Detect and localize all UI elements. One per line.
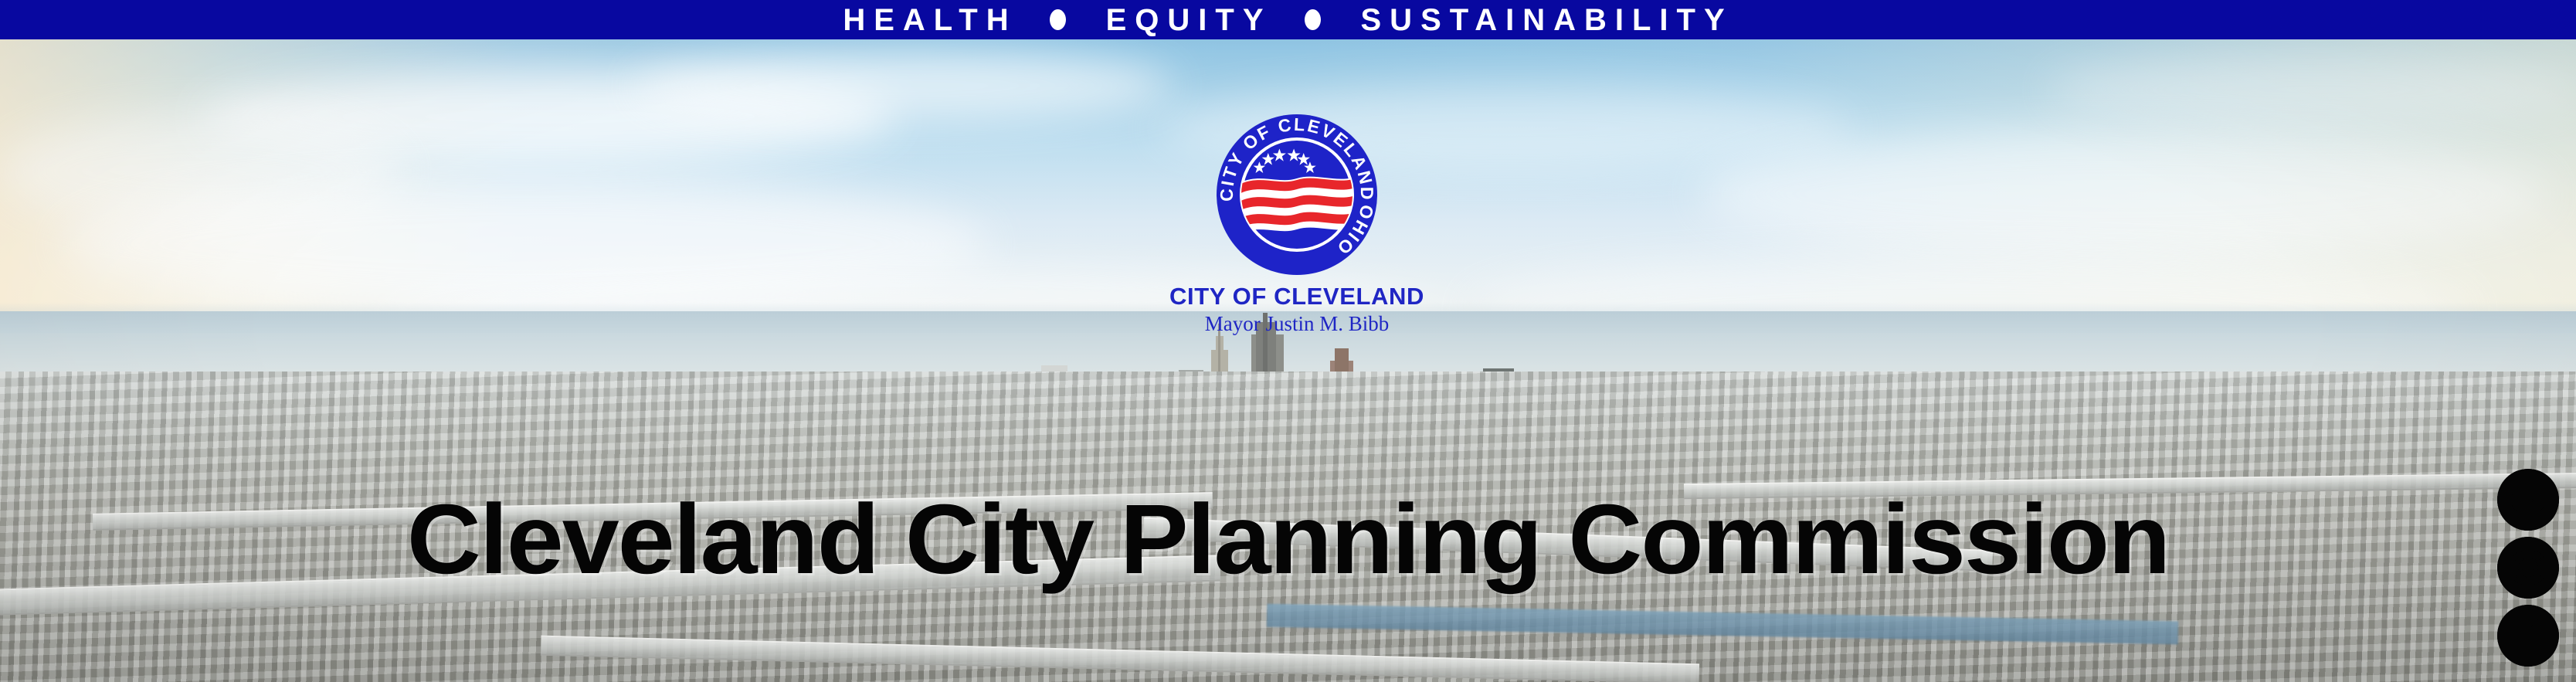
social-links	[2496, 469, 2561, 667]
org-name: CITY OF CLEVELAND	[1169, 283, 1424, 310]
tagline-word-sustainability: SUSTAINABILITY	[1361, 5, 1733, 36]
city-identity-block: CITY OF CLEVELAND Mayor Justin M. Bibb	[1169, 283, 1424, 338]
page-root: HEALTH EQUITY SUSTAINABILITY	[0, 0, 2576, 682]
social-link-youtube[interactable]	[2497, 469, 2559, 531]
tagline-banner: HEALTH EQUITY SUSTAINABILITY	[0, 0, 2576, 39]
tagline-dot-icon-1	[1050, 9, 1066, 30]
city-of-cleveland-seal-icon: CITY OF CLEVELAND OHIO	[1211, 109, 1383, 280]
cloud-streak	[633, 51, 1174, 120]
youtube-icon	[2497, 469, 2559, 531]
instagram-icon	[2497, 537, 2559, 599]
tagline-dot-icon-2	[1305, 9, 1321, 30]
facebook-icon	[2497, 605, 2559, 667]
tagline-word-health: HEALTH	[843, 5, 1016, 36]
social-link-facebook[interactable]	[2497, 605, 2559, 667]
cloud-streak	[1699, 132, 2549, 256]
tagline-word-equity: EQUITY	[1106, 5, 1272, 36]
mayor-name: Mayor Justin M. Bibb	[1169, 311, 1424, 338]
social-link-instagram[interactable]	[2497, 537, 2559, 599]
tagline-banner-inner: HEALTH EQUITY SUSTAINABILITY	[843, 5, 1733, 36]
cloud-streak	[2047, 55, 2576, 124]
hero-photo: CITY OF CLEVELAND OHIO CITY OF CLEVELAND…	[0, 39, 2576, 682]
page-title: Cleveland City Planning Commission	[0, 490, 2576, 589]
city-seal: CITY OF CLEVELAND OHIO	[1211, 109, 1383, 280]
